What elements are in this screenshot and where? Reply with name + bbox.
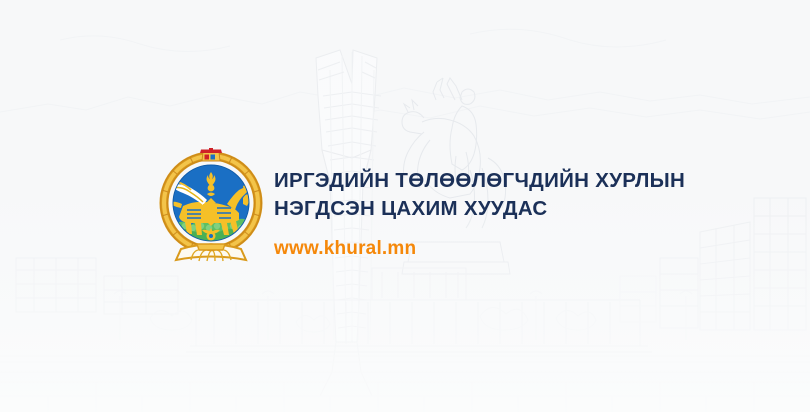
title-block: ИРГЭДИЙН ТӨЛӨӨЛӨГЧДИЙН ХУРЛЫН НЭГДСЭН ЦА… bbox=[274, 148, 685, 262]
banner-title-line-1: ИРГЭДИЙН ТӨЛӨӨЛӨГЧДИЙН ХУРЛЫН bbox=[274, 167, 685, 195]
site-url-link[interactable]: www.khural.mn bbox=[274, 236, 685, 262]
brand-lockup: ИРГЭДИЙН ТӨЛӨӨЛӨГЧДИЙН ХУРЛЫН НЭГДСЭН ЦА… bbox=[157, 148, 685, 268]
site-banner: .ln { fill:none; stroke:#dde1e6; stroke-… bbox=[0, 0, 810, 412]
banner-title-line-2: НЭГДСЭН ЦАХИМ ХУУДАС bbox=[274, 195, 685, 223]
mongolian-state-emblem-icon bbox=[157, 148, 265, 268]
